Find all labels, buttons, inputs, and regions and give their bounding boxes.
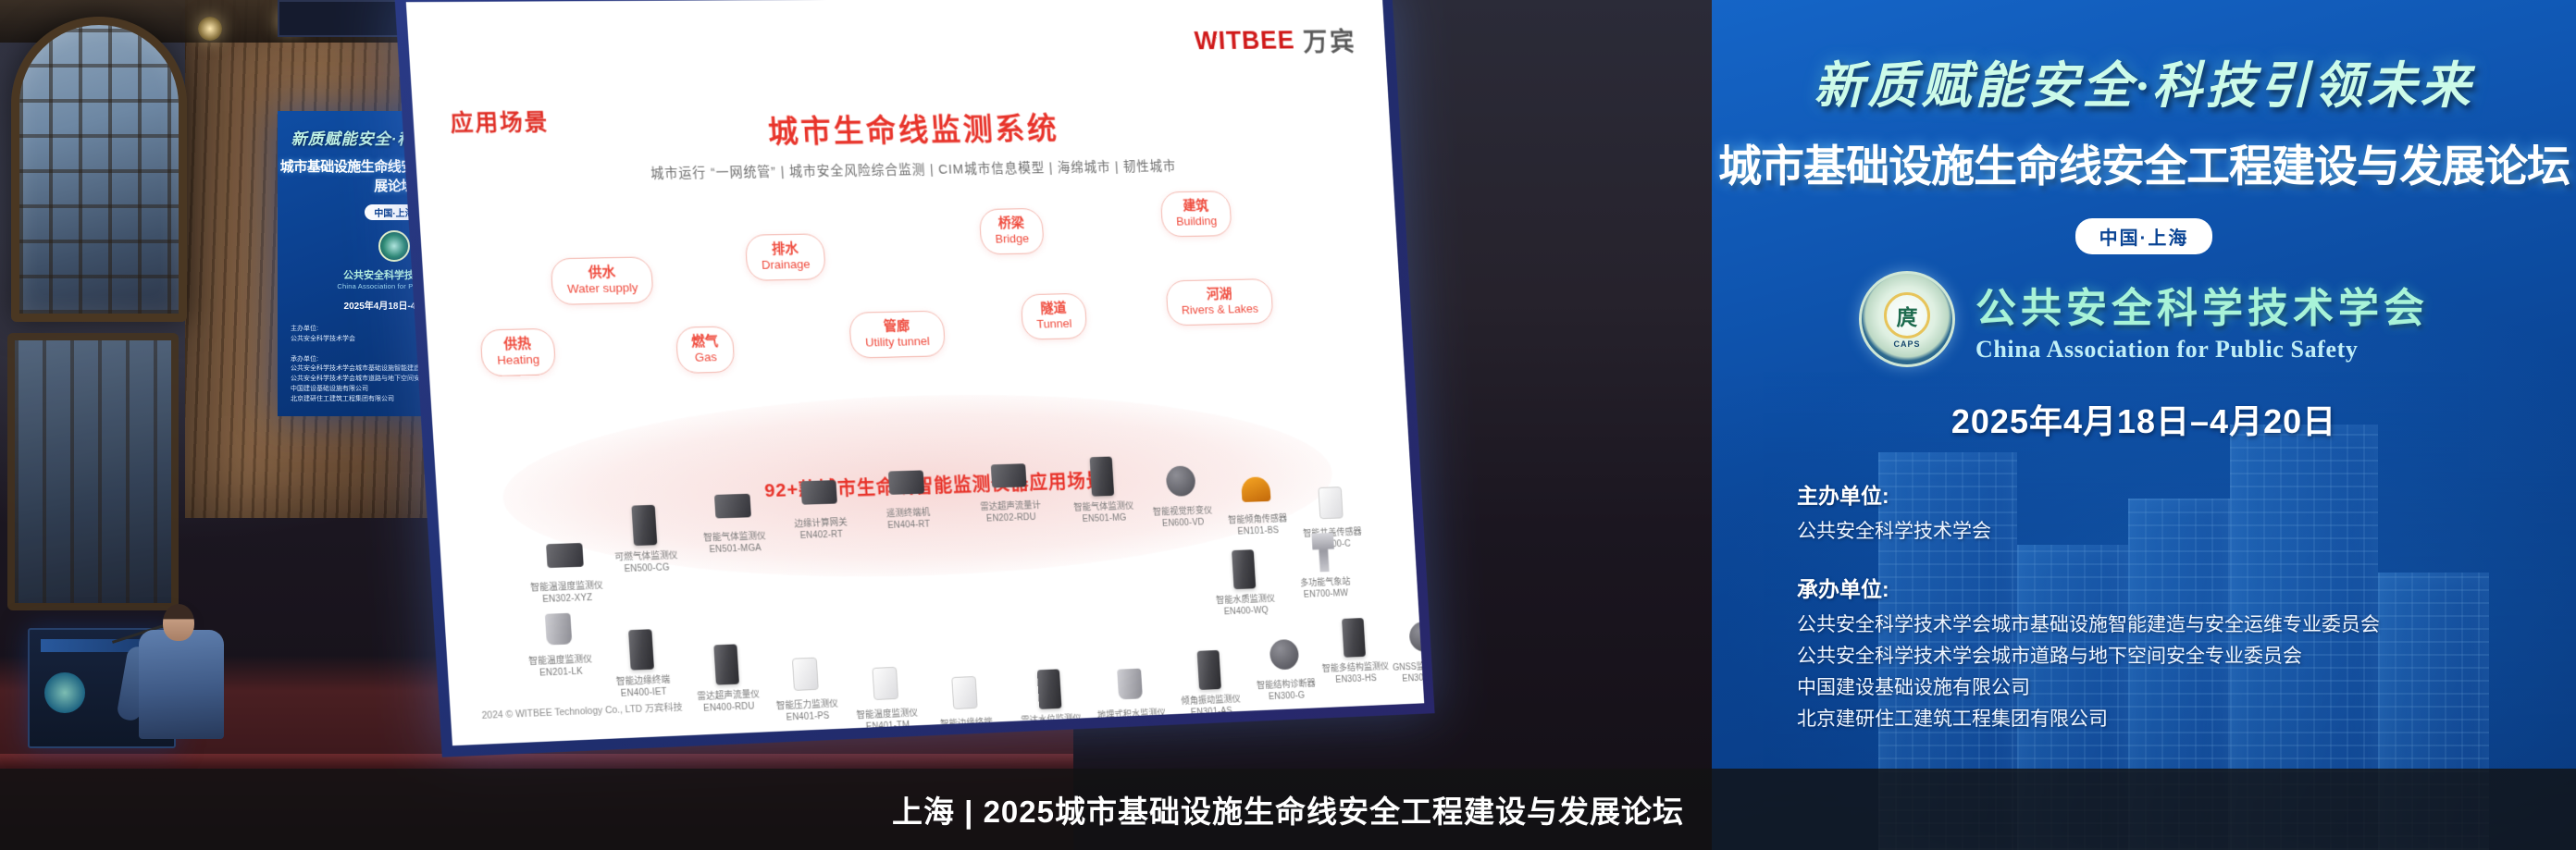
device-photo: [885, 459, 927, 507]
bubble-label-en: Tunnel: [1036, 317, 1072, 333]
box-light-icon: [1318, 487, 1343, 519]
bubble-label-cn: 供水: [566, 265, 638, 283]
box-dark-icon: [1342, 618, 1366, 658]
organizer-line: 公共安全科学技术学会: [1797, 516, 2576, 548]
box-wide-icon: [714, 494, 751, 519]
device-photo: [785, 650, 826, 699]
bubble-label-cn: 隧道: [1035, 301, 1071, 318]
device-photo: [1404, 613, 1424, 660]
device-item: 多功能气象站EN700-MW: [1272, 528, 1377, 601]
bubble-label-cn: 排水: [761, 240, 811, 258]
bubble-label-cn: 供热: [496, 336, 539, 353]
category-bubble: 建筑Building: [1160, 191, 1232, 237]
slide-title: 城市生命线监测系统: [413, 101, 1391, 157]
brand-name-cn: 万宾: [1302, 21, 1357, 58]
device-photo: [1311, 479, 1351, 526]
spacer: [1797, 548, 2576, 572]
device-gallery: 智能温湿度监测仪EN302-XYZ可燃气体监测仪EN500-CG智能气体监测仪E…: [406, 0, 1382, 2]
device-photo: [1236, 466, 1276, 513]
box-wide-icon: [888, 470, 924, 494]
host-label: 主办单位:: [1797, 478, 2576, 510]
banner-event-date: 2025年4月18日–4月20日: [1712, 395, 2576, 443]
device-photo: [537, 605, 579, 654]
box-dark-icon: [1037, 669, 1062, 708]
box-light-icon: [872, 667, 898, 700]
dome-icon: [1241, 476, 1271, 502]
organizer-line: 公共安全科学技术学会城市基础设施智能建造与安全运维专业委员会: [1797, 610, 2576, 641]
association-name-cn: 公共安全科学技术学会: [1975, 275, 2429, 334]
bubble-label-en: Rivers & Lakes: [1182, 302, 1259, 319]
device-photo: [1224, 546, 1264, 593]
category-bubble: 隧道Tunnel: [1021, 293, 1088, 340]
device-photo: [620, 625, 663, 674]
category-bubble: 供水Water supply: [550, 256, 654, 304]
category-bubble: 桥梁Bridge: [979, 208, 1045, 254]
device-photo: [1304, 529, 1344, 576]
box-dark-icon: [628, 629, 654, 670]
bubble-label-en: Gas: [692, 351, 720, 366]
seal-abbreviation: CAPS: [1893, 339, 1920, 349]
device-photo: [944, 669, 985, 717]
association-name-en: China Association for Public Safety: [1975, 336, 2429, 363]
spotlight: [198, 17, 222, 41]
lower-window: [7, 333, 179, 610]
circ-icon: [1408, 622, 1424, 652]
device-photo: [1160, 458, 1200, 505]
box-dark-icon: [1232, 549, 1256, 589]
device-photo: [864, 659, 906, 708]
organizer-line: 北京建研住工建筑工程集团有限公司: [1797, 704, 2576, 735]
mini-caps-seal-icon: [378, 230, 410, 262]
box-light-icon: [951, 676, 977, 709]
bubble-label-en: Building: [1176, 215, 1218, 230]
witbee-logo: WITBEE 万宾: [1194, 21, 1358, 59]
box-wide-icon: [546, 543, 584, 568]
organizer-line: 公共安全科学技术学会城市道路与地下空间安全专业委员会: [1797, 641, 2576, 672]
seal-center-glyph: 庹: [1884, 292, 1930, 339]
device-item: 遥测终端机EN404-RT: [852, 458, 961, 532]
device-photo: [1265, 631, 1305, 678]
banner-forum-title: 城市基础设施生命线安全工程建设与发展论坛: [1712, 130, 2576, 194]
device-photo: [1029, 665, 1070, 713]
category-bubble: 排水Drainage: [745, 233, 826, 280]
banner-script-headline: 新质赋能安全·科技引领未来: [1712, 44, 2576, 117]
bubble-label-cn: 管廊: [864, 318, 930, 336]
device-photo: [1334, 614, 1374, 661]
organizer-line: 中国建设基础设施有限公司: [1797, 672, 2576, 704]
category-bubble: 河湖Rivers & Lakes: [1165, 278, 1273, 326]
circ-icon: [1166, 465, 1196, 497]
main-led-banner: 新质赋能安全·科技引领未来 城市基础设施生命线安全工程建设与发展论坛 中国·上海…: [1712, 0, 2576, 850]
brand-name-en: WITBEE: [1194, 26, 1295, 55]
slide-copyright: 2024 © WITBEE Technology Co., LTD 万宾科技: [481, 700, 683, 722]
bubble-label-cn: 燃气: [691, 334, 719, 351]
bubble-label-en: Water supply: [567, 281, 638, 298]
caps-seal-icon: 庹 CAPS: [1859, 271, 1955, 367]
bubble-label-cn: 桥梁: [994, 216, 1029, 232]
host-list: 公共安全科学技术学会: [1797, 516, 2576, 548]
device-photo: [543, 531, 586, 580]
screen-frame: WITBEE 万宾 应用场景 城市生命线监测系统 城市运行 “一网统管” | 城…: [394, 0, 1435, 758]
bubble-label-cn: 建筑: [1175, 198, 1217, 215]
box-light-icon: [792, 658, 819, 691]
box-wide-icon: [991, 463, 1027, 487]
category-bubble: 供热Heating: [479, 328, 555, 376]
association-text: 公共安全科学技术学会 China Association for Public …: [1975, 275, 2429, 363]
bubble-label-en: Bridge: [995, 232, 1029, 248]
podium-logo-icon: [44, 672, 85, 713]
device-item: GNSS监测一体机EN300-GNA: [1372, 612, 1424, 685]
box-dark-icon: [1197, 650, 1221, 690]
coorganizer-label: 承办单位:: [1797, 572, 2576, 603]
cyl-icon: [545, 613, 573, 646]
device-photo: [988, 452, 1029, 500]
association-block: 庹 CAPS 公共安全科学技术学会 China Association for …: [1712, 271, 2576, 367]
slide-subtitle: 城市运行 “一网统管” | 城市安全风险综合监测 | CIM城市信息模型 | 海…: [416, 153, 1393, 186]
box-wide-icon: [800, 480, 837, 505]
device-photo: [1109, 660, 1150, 708]
category-bubble: 燃气Gas: [675, 326, 736, 373]
coorganizer-list: 公共安全科学技术学会城市基础设施智能建造与安全运维专业委员会公共安全科学技术学会…: [1797, 610, 2576, 735]
device-photo: [1189, 647, 1229, 694]
caption-text: 上海 | 2025城市基础设施生命线安全工程建设与发展论坛: [892, 787, 1684, 832]
bubble-label-cn: 河湖: [1180, 286, 1257, 303]
device-name: GNSS监测一体机: [1375, 659, 1424, 674]
bubble-label-en: Heating: [497, 352, 540, 368]
projection-screen: WITBEE 万宾 应用场景 城市生命线监测系统 城市运行 “一网统管” | 城…: [394, 0, 1435, 758]
bubble-label-en: Utility tunnel: [865, 335, 931, 351]
weather-icon: [1308, 533, 1339, 573]
box-dark-icon: [631, 505, 657, 546]
circ-icon: [1269, 639, 1300, 671]
screenshot-root: 新质赋能安全·科技引领未来 城市基础设施生命线安全工程建设与发展论坛 中国·上海…: [0, 0, 2576, 850]
cyl-icon: [1117, 669, 1143, 700]
bubble-label-en: Drainage: [762, 257, 811, 273]
category-bubble-group: 供热Heating供水Water supply燃气Gas排水Drainage管廊…: [472, 189, 1370, 377]
device-photo: [623, 501, 665, 550]
device-photo: [712, 482, 753, 530]
device-photo: [1082, 452, 1122, 499]
device-photo: [799, 468, 840, 516]
presenter-head: [163, 604, 194, 641]
box-dark-icon: [1090, 457, 1115, 497]
box-dark-icon: [713, 644, 739, 684]
banner-location-chip: 中国·上海: [2075, 218, 2213, 254]
device-item: 雷达超声流量计EN202-RDU: [955, 451, 1063, 524]
arched-window: [11, 17, 187, 322]
device-photo: [705, 640, 748, 689]
presenter-body: [139, 630, 224, 739]
bottom-caption-bar: 上海 | 2025城市基础设施生命线安全工程建设与发展论坛: [0, 769, 2576, 850]
category-bubble: 管廊Utility tunnel: [848, 311, 946, 359]
organizers-block: 主办单位: 公共安全科学技术学会 承办单位: 公共安全科学技术学会城市基础设施智…: [1797, 478, 2576, 735]
presentation-slide: WITBEE 万宾 应用场景 城市生命线监测系统 城市运行 “一网统管” | 城…: [406, 0, 1424, 745]
